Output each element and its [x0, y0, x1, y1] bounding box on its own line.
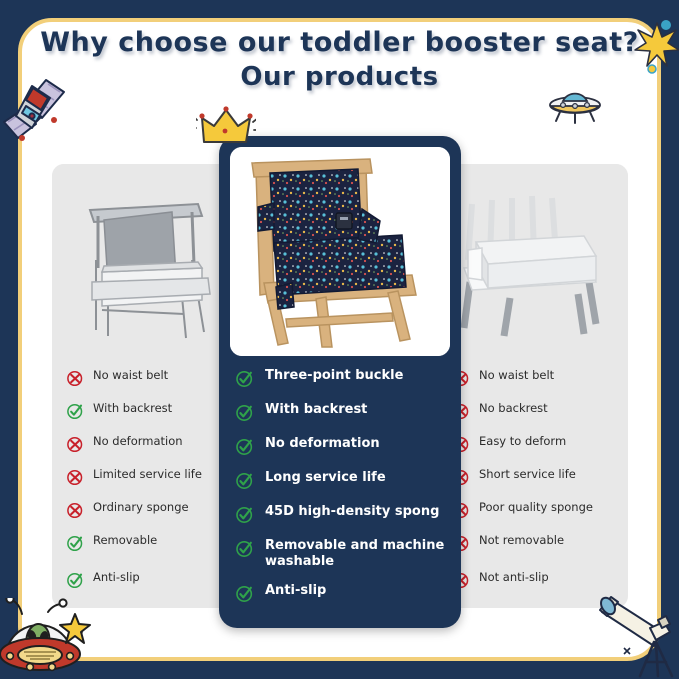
feature-row: Easy to deform: [452, 434, 628, 454]
feature-label: Removable: [93, 533, 157, 548]
feature-label: Long service life: [265, 470, 386, 486]
check-icon: [235, 437, 255, 457]
feature-row: Ordinary sponge: [66, 500, 242, 520]
feature-row: 45D high-density spong: [235, 504, 447, 525]
feature-label: No waist belt: [93, 368, 168, 383]
check-icon: [66, 534, 85, 553]
feature-row: Long service life: [235, 470, 447, 491]
column-center-highlighted[interactable]: Three-point buckleWith backrestNo deform…: [219, 136, 461, 628]
feature-row: Anti-slip: [66, 570, 242, 590]
feature-row: Limited service life: [66, 467, 242, 487]
feature-row: Not anti-slip: [452, 570, 628, 590]
check-icon: [235, 369, 255, 389]
feature-label: Easy to deform: [479, 434, 566, 449]
feature-row: No deformation: [66, 434, 242, 454]
check-icon: [235, 539, 255, 559]
feature-row: With backrest: [235, 402, 447, 423]
feature-label: Three-point buckle: [265, 368, 403, 384]
feature-row: Short service life: [452, 467, 628, 487]
poster-canvas: Why choose our toddler booster seat? Our…: [0, 0, 679, 679]
feature-label: No backrest: [479, 401, 548, 416]
check-icon: [235, 584, 255, 604]
feature-row: Removable and machine washable: [235, 538, 447, 570]
feature-label: Poor quality sponge: [479, 500, 593, 515]
check-icon: [235, 505, 255, 525]
comparison-columns: No waist beltWith backrestNo deformation…: [52, 164, 628, 608]
feature-label: Anti-slip: [265, 583, 326, 599]
feature-row: Removable: [66, 533, 242, 553]
cross-icon: [66, 468, 85, 487]
feature-label: No deformation: [93, 434, 183, 449]
cross-icon: [66, 501, 85, 520]
product-image-right: [438, 164, 628, 350]
feature-row: Three-point buckle: [235, 368, 447, 389]
cross-icon: [66, 369, 85, 388]
cross-icon: [66, 435, 85, 454]
check-icon: [235, 471, 255, 491]
feature-row: No waist belt: [452, 368, 628, 388]
feature-list-left: No waist beltWith backrestNo deformation…: [66, 368, 242, 603]
check-icon: [235, 403, 255, 423]
feature-label: 45D high-density spong: [265, 504, 439, 520]
product-image-center: [230, 147, 450, 356]
feature-row: Not removable: [452, 533, 628, 553]
feature-row: Poor quality sponge: [452, 500, 628, 520]
column-left: No waist beltWith backrestNo deformation…: [52, 164, 242, 608]
feature-label: Not anti-slip: [479, 570, 549, 585]
feature-label: No deformation: [265, 436, 380, 452]
check-icon: [66, 402, 85, 421]
page-header: Why choose our toddler booster seat? Our…: [24, 26, 655, 93]
feature-row: No backrest: [452, 401, 628, 421]
feature-label: Not removable: [479, 533, 564, 548]
feature-row: With backrest: [66, 401, 242, 421]
feature-label: Removable and machine washable: [265, 538, 447, 570]
feature-label: With backrest: [265, 402, 367, 418]
column-right: No waist beltNo backrestEasy to deformSh…: [438, 164, 628, 608]
feature-label: Anti-slip: [93, 570, 140, 585]
feature-row: No waist belt: [66, 368, 242, 388]
feature-label: With backrest: [93, 401, 172, 416]
feature-label: Limited service life: [93, 467, 202, 482]
feature-list-center: Three-point buckleWith backrestNo deform…: [235, 368, 447, 617]
feature-label: Short service life: [479, 467, 576, 482]
page-title: Why choose our toddler booster seat?: [24, 26, 655, 60]
feature-label: Ordinary sponge: [93, 500, 189, 515]
product-image-left: [52, 164, 242, 350]
feature-label: No waist belt: [479, 368, 554, 383]
feature-row: No deformation: [235, 436, 447, 457]
feature-list-right: No waist beltNo backrestEasy to deformSh…: [452, 368, 628, 603]
feature-row: Anti-slip: [235, 583, 447, 604]
dot-icon: [660, 18, 672, 36]
page-subtitle: Our products: [24, 61, 655, 93]
check-icon: [66, 571, 85, 590]
